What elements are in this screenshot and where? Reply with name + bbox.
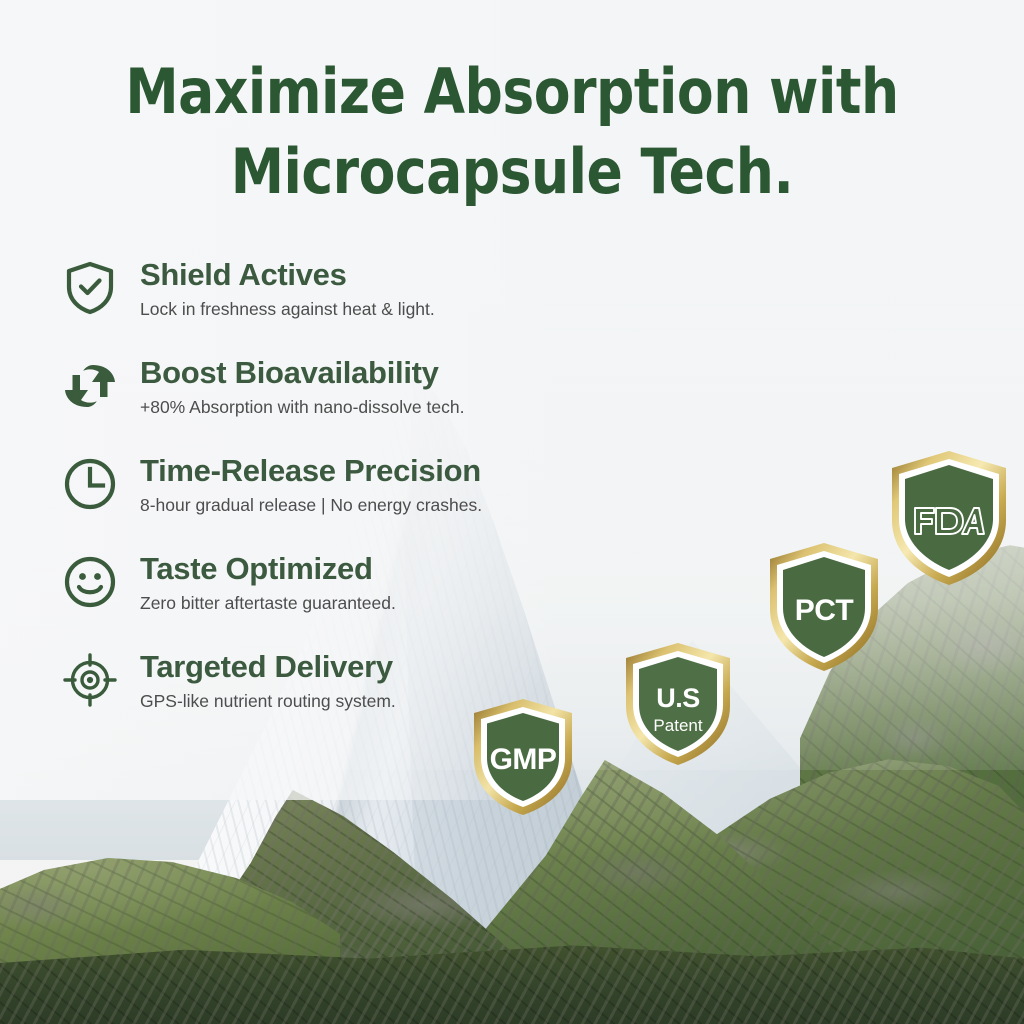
crosshair-target-icon: [62, 652, 118, 708]
feature-item-boost-bioavailability: Boost Bioavailability +80% Absorption wi…: [62, 354, 622, 452]
feature-title: Targeted Delivery: [140, 648, 622, 686]
feature-title: Boost Bioavailability: [140, 354, 622, 392]
feature-item-taste-optimized: Taste Optimized Zero bitter aftertaste g…: [62, 550, 622, 648]
feature-subtitle: 8-hour gradual release | No energy crash…: [140, 492, 622, 518]
feature-list: Shield Actives Lock in freshness against…: [62, 256, 622, 746]
page-title-line-1: Maximize Absorption with: [125, 55, 898, 128]
shield-check-icon: [62, 260, 118, 316]
badge-pct: PCT: [764, 540, 884, 674]
feature-subtitle: +80% Absorption with nano-dissolve tech.: [140, 394, 622, 420]
page-title: Maximize Absorption with Microcapsule Te…: [20, 52, 1003, 212]
clock-icon: [62, 456, 118, 512]
smiley-icon: [62, 554, 118, 610]
feature-subtitle: Lock in freshness against heat & light.: [140, 296, 622, 322]
feature-title: Shield Actives: [140, 256, 622, 294]
feature-item-shield-actives: Shield Actives Lock in freshness against…: [62, 256, 622, 354]
infographic-canvas: Maximize Absorption with Microcapsule Te…: [0, 0, 1024, 1024]
badge-fda: FDA: [886, 448, 1012, 588]
page-title-line-2: Microcapsule Tech.: [20, 132, 1003, 212]
feature-item-time-release-precision: Time-Release Precision 8-hour gradual re…: [62, 452, 622, 550]
swap-arrows-icon: [62, 358, 118, 414]
badge-gmp: GMP: [468, 696, 578, 818]
feature-title: Time-Release Precision: [140, 452, 622, 490]
feature-title: Taste Optimized: [140, 550, 622, 588]
badge-us-patent: U.S Patent: [620, 640, 736, 768]
content-layer: Maximize Absorption with Microcapsule Te…: [0, 0, 1024, 1024]
feature-subtitle: Zero bitter aftertaste guaranteed.: [140, 590, 622, 616]
